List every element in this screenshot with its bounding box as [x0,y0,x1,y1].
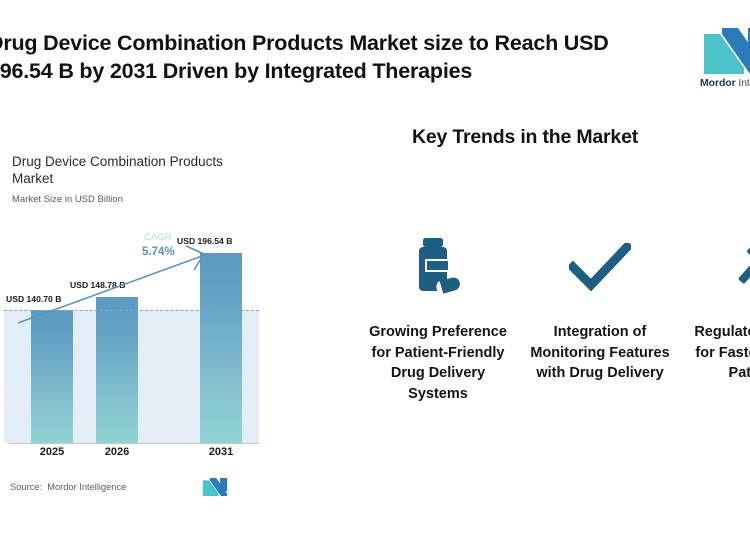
reference-dashed-line [4,310,259,311]
pill-bottle-icon [368,228,508,306]
trend-item-1: Growing Preference for Patient-Friendly … [368,228,508,404]
bar-2026 [96,297,138,443]
market-size-chart-card: Drug Device Combination Products Market … [0,140,272,505]
brand-name-light: Intelligence [736,77,750,89]
brand-logo: Mordor Intelligence [700,28,750,98]
x-axis-tick-2026: 2026 [87,446,147,458]
trend-item-2: Integration of Monitoring Features with … [530,228,670,384]
source-label: Source: [10,482,42,492]
gavel-icon [692,228,750,306]
trend-label-3: Regulatory Support for Faster Approval P… [692,322,750,384]
bar-2031 [200,253,242,443]
trend-label-2: Integration of Monitoring Features with … [530,322,670,384]
chart-source: Source: Mordor Intelligence [10,482,126,492]
brand-name-bold: Mordor [700,77,736,89]
cagr-value: 5.74% [142,246,175,258]
source-name: Mordor Intelligence [47,482,126,492]
bar-value-label-2026: USD 148.78 B [70,280,125,290]
trends-heading: Key Trends in the Market [384,126,666,149]
chart-subtitle: Market Size in USD Billion [12,194,123,205]
x-axis-tick-2025: 2025 [22,446,82,458]
bar-chart-plot-area: USD 140.70 B USD 148.78 B USD 196.54 B C… [4,238,259,443]
bar-2025 [31,310,73,443]
trend-item-3: Regulatory Support for Faster Approval P… [692,228,750,384]
page-title: Drug Device Combination Products Market … [0,30,678,86]
checkmark-icon [530,228,670,306]
source-mordor-logo-icon [202,478,228,496]
cagr-label: CAGR [144,232,171,243]
mordor-m-logo-icon [704,28,750,74]
x-axis-line [9,443,259,444]
x-axis-tick-2031: 2031 [191,446,251,458]
brand-logo-text: Mordor Intelligence [700,77,750,89]
infographic-page: Drug Device Combination Products Market … [0,0,750,536]
chart-title: Drug Device Combination Products Market [12,154,252,188]
trend-label-1: Growing Preference for Patient-Friendly … [368,322,508,404]
bar-value-label-2031: USD 196.54 B [177,236,232,246]
bar-value-label-2025: USD 140.70 B [6,294,61,304]
